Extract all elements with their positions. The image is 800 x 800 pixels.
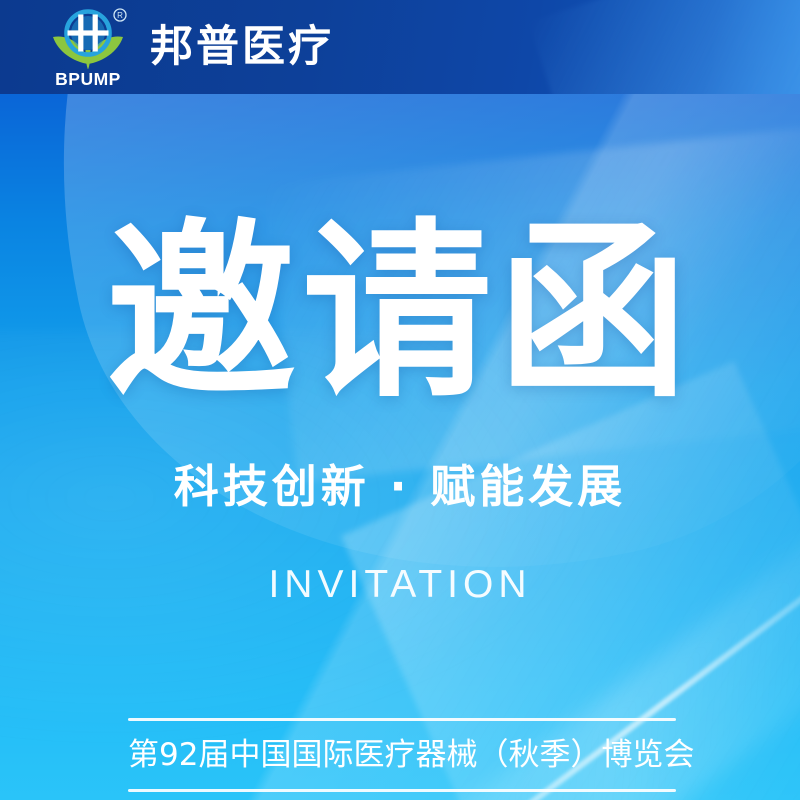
invitation-english-label: INVITATION [268,565,531,604]
bpump-flower-logo-icon: R BPUMP [44,6,132,88]
brand-header-bar: R BPUMP 邦普医疗 [0,0,800,94]
poster-content: 邀请函 科技创新 · 赋能发展 INVITATION [0,0,800,800]
brand-name-cn: 邦普医疗 [150,26,334,69]
poster-subtitle: 科技创新 · 赋能发展 [174,464,626,509]
invitation-poster: R BPUMP 邦普医疗 邀请函 科技创新 · 赋能发展 INVITATION … [0,0,800,800]
divider-bottom [128,789,676,792]
svg-text:R: R [117,11,123,20]
page-title: 邀请函 [106,218,694,408]
header-light-sheen [529,0,800,94]
event-name: 第92届中国国际医疗器械（秋季）博览会 [128,721,676,789]
svg-text:BPUMP: BPUMP [55,69,121,88]
event-banner: 第92届中国国际医疗器械（秋季）博览会 [128,718,676,792]
